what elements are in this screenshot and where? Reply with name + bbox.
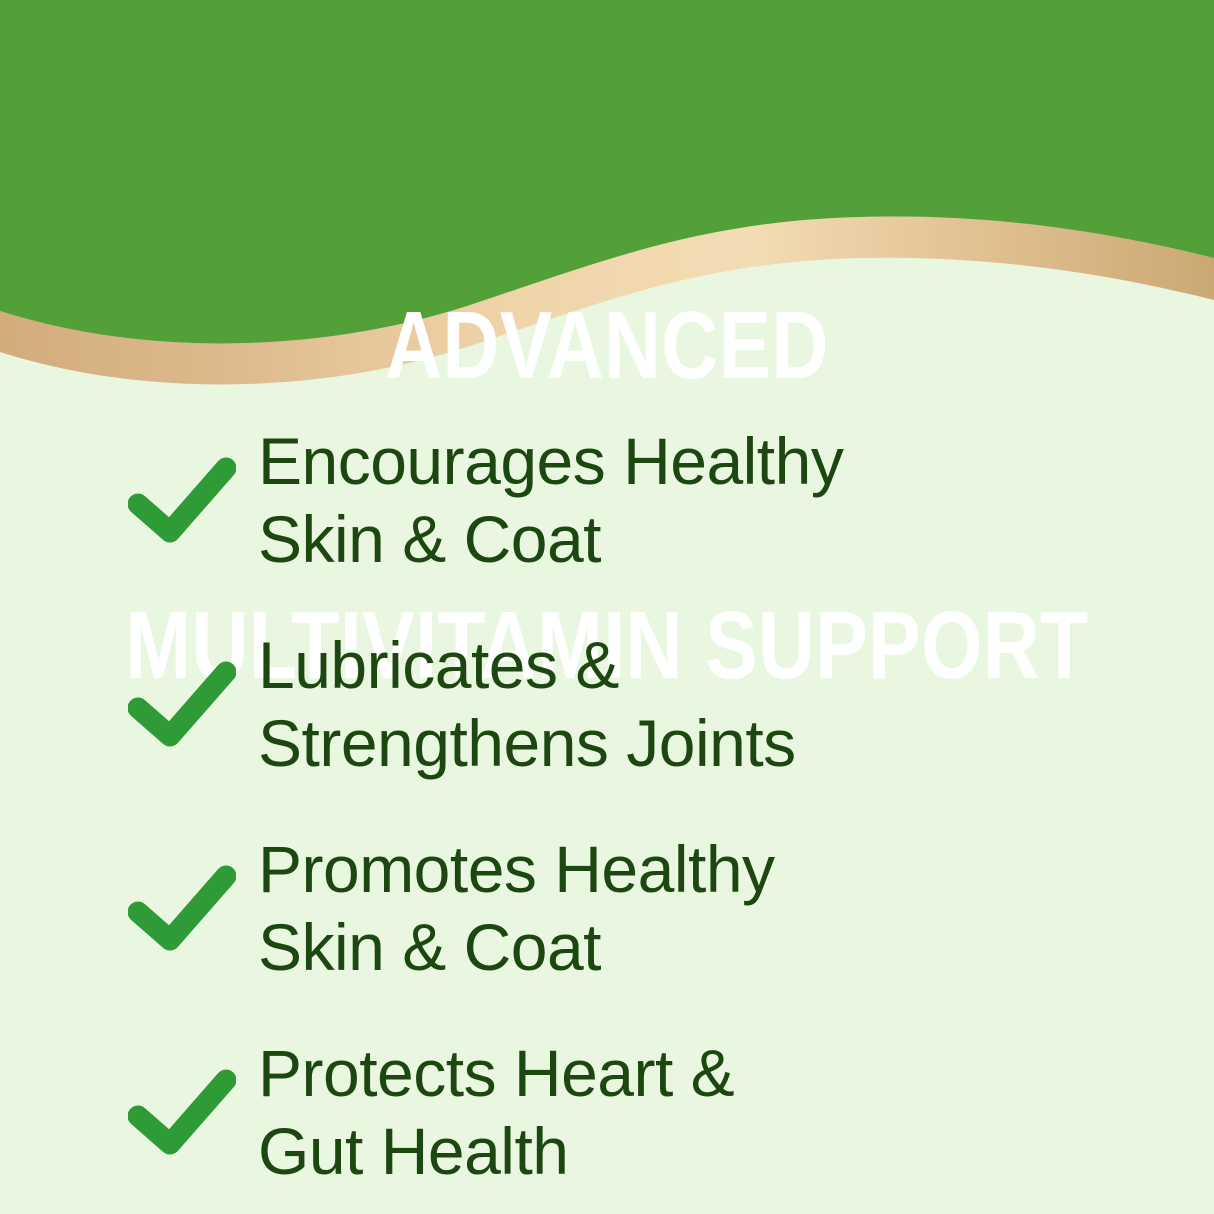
list-item-label: Lubricates & Strengthens Joints <box>258 626 796 782</box>
check-icon <box>128 452 236 548</box>
check-icon <box>128 1064 236 1160</box>
list-item: Protects Heart & Gut Health <box>0 1010 1174 1214</box>
benefits-list: Encourages Healthy Skin & Coat Lubricate… <box>0 398 1214 1214</box>
list-item: Encourages Healthy Skin & Coat <box>0 398 1174 602</box>
check-icon <box>128 656 236 752</box>
check-icon <box>128 860 236 956</box>
list-item-label: Promotes Healthy Skin & Coat <box>258 830 775 986</box>
header-banner: ADVANCED MULTIVITAMIN SUPPORT <box>0 0 1214 420</box>
product-benefits-poster: ADVANCED MULTIVITAMIN SUPPORT Encourages… <box>0 0 1214 1214</box>
page-title-line-1: ADVANCED <box>109 296 1104 396</box>
list-item: Promotes Healthy Skin & Coat <box>0 806 1174 1010</box>
list-item-label: Protects Heart & Gut Health <box>258 1034 734 1190</box>
list-item: Lubricates & Strengthens Joints <box>0 602 1174 806</box>
list-item-label: Encourages Healthy Skin & Coat <box>258 422 843 578</box>
